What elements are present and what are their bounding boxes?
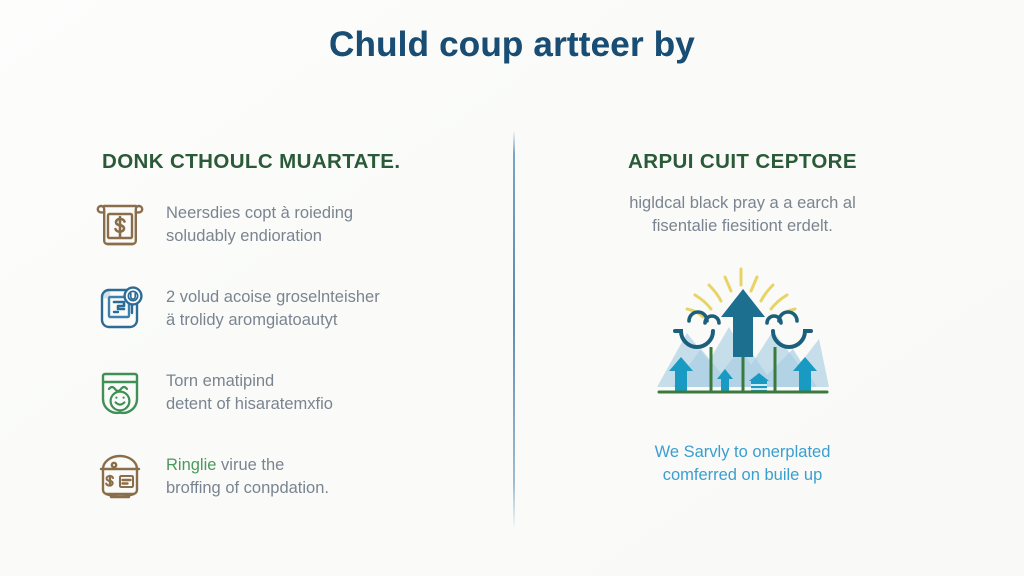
title-container: Chuld coup artteer by <box>0 24 1024 66</box>
right-lead-line2: fisentalie fiesitiont erdelt. <box>652 217 833 235</box>
right-caption-line1: We Sarvly to onerplated <box>655 443 831 461</box>
certificate-seal-icon <box>92 280 148 338</box>
list-item-line2: detent of hisaratemxfio <box>166 395 333 413</box>
list-item-line1: 2 volud acoise groselnteisher <box>166 288 380 306</box>
columns-container: DONK CTHOULC MUARTATE. <box>0 124 1024 544</box>
list-item[interactable]: Ringlie virue the broffing of conpdation… <box>92 448 475 510</box>
right-caption-line2: comferred on buile up <box>663 466 823 484</box>
list-item-line2: ä trolidy aromgiatoautyt <box>166 311 338 329</box>
list-item-line1-accent: Ringlie <box>166 456 216 474</box>
brown-box-icon <box>92 448 148 506</box>
list-item[interactable]: Neersdies copt à roieding soludably endi… <box>92 196 475 258</box>
right-column-heading: ARPUI CUIT CEPTORE <box>561 150 924 174</box>
feature-list: Neersdies copt à roieding soludably endi… <box>92 196 475 510</box>
list-item-text: Torn ematipind detent of hisaratemxfio <box>166 364 333 417</box>
list-item-line1: Torn ematipind <box>166 372 274 390</box>
right-lead-line1: higldcal black pray a a earch al <box>629 194 856 212</box>
scroll-dollar-icon <box>92 196 148 254</box>
list-item-line1: Neersdies copt à roieding <box>166 204 353 222</box>
right-column-caption: We Sarvly to onerplated comferred on bui… <box>561 441 924 488</box>
right-column-lead-text: higldcal black pray a a earch al fisenta… <box>561 192 924 239</box>
list-item-text: 2 volud acoise groselnteisher ä trolidy … <box>166 280 380 333</box>
page-title: Chuld coup artteer by <box>0 24 1024 66</box>
list-item-line2: broffing of conpdation. <box>166 479 329 497</box>
left-column-heading: DONK CTHOULC MUARTATE. <box>102 150 475 174</box>
column-divider <box>513 130 515 530</box>
left-column: DONK CTHOULC MUARTATE. <box>0 124 515 544</box>
right-column: ARPUI CUIT CEPTORE higldcal black pray a… <box>515 124 1024 544</box>
list-item[interactable]: Torn ematipind detent of hisaratemxfio <box>92 364 475 426</box>
green-shield-face-icon <box>92 364 148 422</box>
infographic-slide: Chuld coup artteer by DONK CTHOULC MUART… <box>0 0 1024 576</box>
list-item-text: Ringlie virue the broffing of conpdation… <box>166 448 329 501</box>
list-item-line2: soludably endioration <box>166 227 322 245</box>
growth-arrows-mountains-illustration <box>653 261 833 411</box>
list-item-line1: virue the <box>216 456 284 474</box>
list-item[interactable]: 2 volud acoise groselnteisher ä trolidy … <box>92 280 475 342</box>
list-item-text: Neersdies copt à roieding soludably endi… <box>166 196 353 249</box>
